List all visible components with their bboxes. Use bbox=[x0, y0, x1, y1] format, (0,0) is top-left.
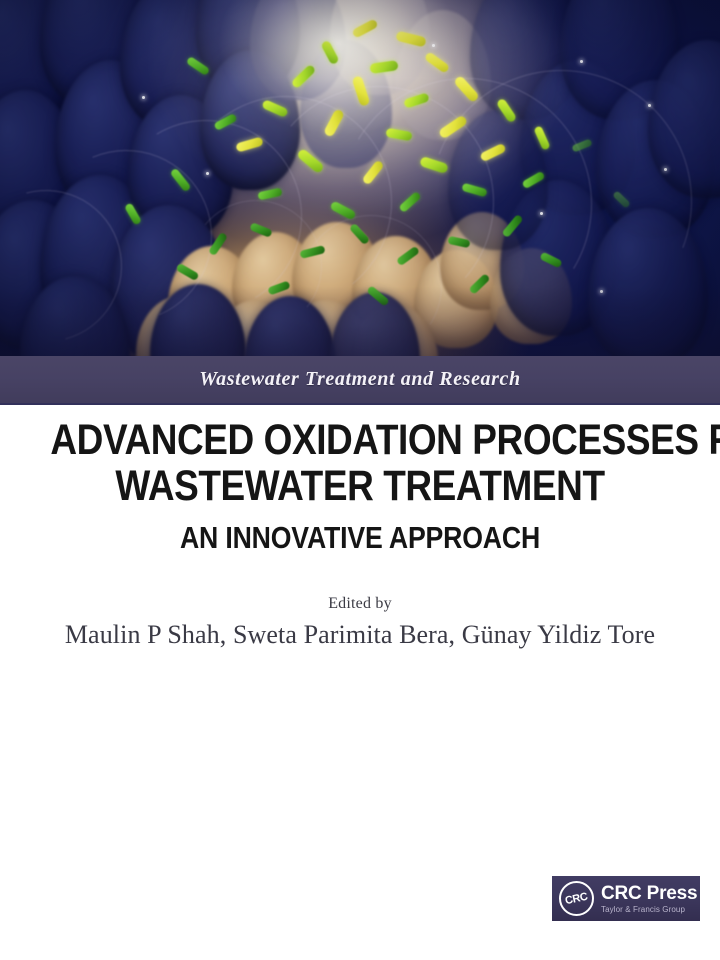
edited-by-label: Edited by bbox=[0, 595, 720, 613]
publisher-group: Taylor & Francis Group bbox=[601, 906, 697, 914]
book-title-line-1: ADVANCED OXIDATION PROCESSES FOR bbox=[50, 417, 669, 463]
publisher-name: CRC Press bbox=[601, 884, 697, 903]
publisher-logo: CRC CRC Press Taylor & Francis Group bbox=[552, 876, 700, 921]
series-band: Wastewater Treatment and Research bbox=[0, 356, 720, 405]
editor-block: Edited by Maulin P Shah, Sweta Parimita … bbox=[0, 595, 720, 650]
book-subtitle: AN INNOVATIVE APPROACH bbox=[50, 519, 669, 557]
book-cover: Wastewater Treatment and Research ADVANC… bbox=[0, 0, 720, 960]
crc-circle-icon: CRC bbox=[559, 881, 594, 916]
artwork-vignette bbox=[0, 0, 720, 358]
crc-mark-label: CRC bbox=[564, 890, 589, 906]
publisher-logo-text: CRC Press Taylor & Francis Group bbox=[601, 884, 697, 914]
book-title-block: ADVANCED OXIDATION PROCESSES FOR WASTEWA… bbox=[0, 417, 720, 557]
editor-names: Maulin P Shah, Sweta Parimita Bera, Güna… bbox=[0, 620, 720, 650]
cover-artwork-image bbox=[0, 0, 720, 358]
series-title: Wastewater Treatment and Research bbox=[199, 368, 520, 391]
book-title-line-2: WASTEWATER TREATMENT bbox=[50, 463, 669, 509]
